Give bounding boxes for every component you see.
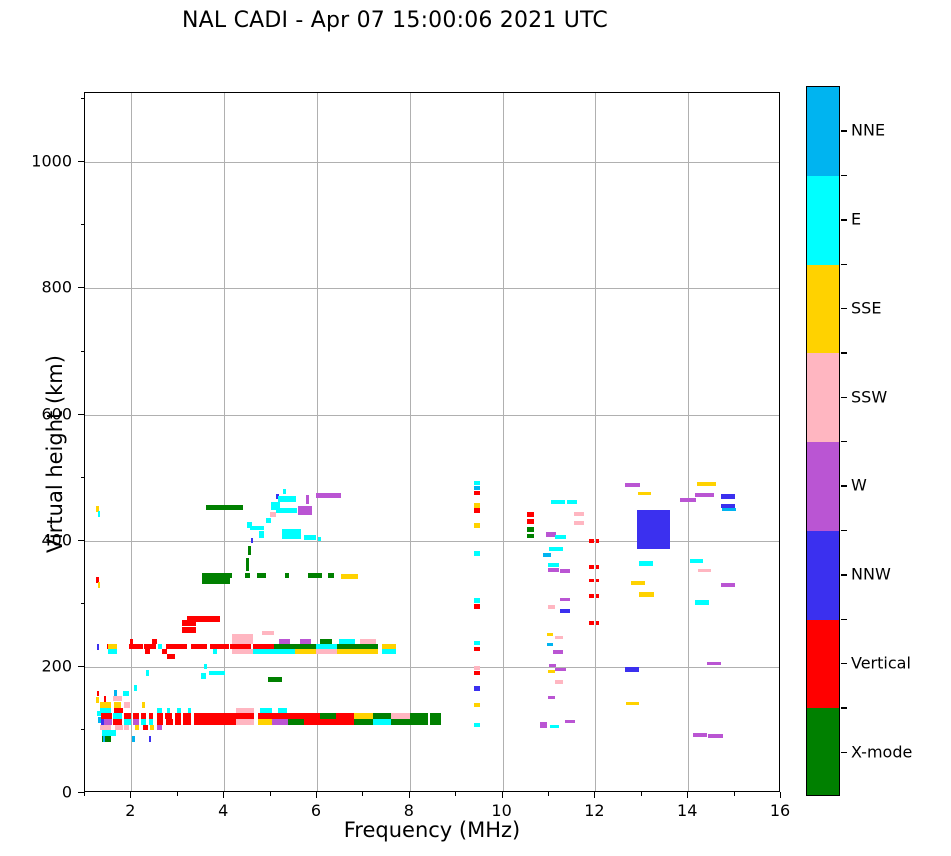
- echo-marker: [111, 730, 116, 736]
- echo-marker: [474, 523, 480, 527]
- echo-marker: [177, 708, 181, 714]
- echo-marker: [257, 573, 266, 579]
- y-tick-minor: [81, 477, 85, 478]
- x-tick: [409, 792, 410, 798]
- y-tick: [78, 792, 84, 793]
- echo-marker: [209, 671, 225, 675]
- x-tick-minor: [362, 792, 363, 796]
- echo-marker: [474, 598, 480, 602]
- echo-marker: [596, 565, 599, 569]
- echo-marker: [245, 573, 250, 579]
- echo-marker: [194, 719, 208, 725]
- echo-marker: [320, 639, 332, 643]
- echo-marker: [548, 670, 555, 673]
- echo-marker: [246, 558, 249, 571]
- echo-marker: [631, 581, 645, 585]
- echo-marker: [339, 639, 355, 643]
- echo-marker: [213, 649, 218, 654]
- echo-marker: [574, 512, 584, 516]
- echo-marker: [250, 526, 264, 530]
- colorbar-tick: [841, 397, 847, 398]
- colorbar-boundary-tick: [841, 530, 847, 531]
- echo-marker: [173, 644, 187, 649]
- echo-marker: [204, 664, 207, 669]
- azimuth-colorbar: [806, 86, 840, 796]
- echo-marker: [298, 506, 312, 515]
- echo-marker: [96, 697, 99, 703]
- colorbar-segment-e: [807, 176, 839, 265]
- echo-marker: [553, 650, 563, 654]
- echo-marker: [268, 677, 282, 681]
- colorbar-segment-nnw: [807, 531, 839, 620]
- echo-marker: [104, 696, 107, 702]
- y-tick-minor: [81, 603, 85, 604]
- echo-marker: [182, 627, 196, 633]
- echo-marker: [134, 685, 137, 691]
- echo-marker: [474, 686, 480, 690]
- x-tick: [502, 792, 503, 798]
- echo-marker: [150, 725, 154, 731]
- colorbar-tick: [841, 308, 847, 309]
- echo-marker: [124, 725, 129, 731]
- colorbar-segment-sse: [807, 265, 839, 354]
- echo-marker: [474, 641, 480, 645]
- x-tick-minor: [84, 792, 85, 796]
- x-tick: [780, 792, 781, 798]
- figure-title: NAL CADI - Apr 07 15:00:06 2021 UTC: [0, 8, 790, 33]
- echo-marker: [358, 649, 379, 654]
- echo-marker: [183, 719, 190, 725]
- echo-marker: [639, 561, 653, 565]
- echo-marker: [221, 719, 237, 725]
- echo-marker: [721, 583, 735, 587]
- echo-marker: [547, 633, 553, 636]
- echo-marker: [680, 498, 696, 502]
- colorbar-segment-ssw: [807, 353, 839, 442]
- echo-marker: [98, 582, 101, 588]
- x-tick-minor: [455, 792, 456, 796]
- echo-marker: [722, 508, 736, 511]
- echo-marker: [474, 503, 480, 507]
- echo-marker: [589, 539, 594, 543]
- echo-marker: [115, 725, 122, 731]
- echo-marker: [550, 725, 558, 728]
- echo-marker: [474, 486, 480, 490]
- echo-marker: [337, 649, 358, 654]
- ionogram-figure: NAL CADI - Apr 07 15:00:06 2021 UTC 2468…: [0, 0, 951, 856]
- x-tick-minor: [548, 792, 549, 796]
- colorbar-segment-x-mode: [807, 708, 839, 796]
- colorbar-boundary-tick: [841, 175, 847, 176]
- echo-marker: [341, 574, 357, 579]
- echo-marker: [474, 671, 480, 675]
- echo-marker: [527, 519, 534, 524]
- y-tick-minor: [81, 224, 85, 225]
- echo-marker: [560, 598, 570, 602]
- echo-marker: [548, 696, 554, 699]
- echo-marker: [543, 553, 551, 557]
- x-axis-label: Frequency (MHz): [84, 818, 780, 842]
- echo-marker: [157, 725, 162, 731]
- echo-marker: [236, 719, 255, 725]
- colorbar-boundary-tick: [841, 441, 847, 442]
- echo-marker: [547, 643, 553, 646]
- plot-area: [84, 92, 780, 792]
- echo-marker: [278, 708, 287, 714]
- x-tick-minor: [641, 792, 642, 796]
- colorbar-segment-w: [807, 442, 839, 531]
- echo-marker: [693, 733, 707, 737]
- echo-marker: [101, 719, 104, 725]
- echo-marker: [306, 495, 309, 504]
- colorbar-tick: [841, 752, 847, 753]
- y-tick-minor: [81, 729, 85, 730]
- echo-marker: [373, 719, 392, 725]
- echo-marker: [527, 527, 534, 532]
- x-tick: [316, 792, 317, 798]
- echo-marker: [270, 512, 276, 517]
- y-tick: [78, 666, 84, 667]
- echo-marker: [272, 719, 288, 725]
- x-tick-minor: [270, 792, 271, 796]
- echo-marker: [474, 723, 480, 727]
- y-tick: [78, 161, 84, 162]
- echo-marker: [114, 690, 116, 696]
- echo-marker: [276, 508, 297, 513]
- echo-marker: [316, 493, 342, 497]
- echo-marker: [285, 573, 290, 579]
- echo-marker: [382, 649, 396, 654]
- x-tick: [594, 792, 595, 798]
- echo-marker: [191, 644, 207, 649]
- y-tick-minor: [81, 98, 85, 99]
- colorbar-label-x-mode: X-mode: [851, 742, 912, 761]
- echo-marker: [596, 579, 599, 583]
- x-tick: [223, 792, 224, 798]
- echo-marker: [336, 719, 355, 725]
- echo-marker: [708, 734, 723, 738]
- echo-marker: [123, 691, 129, 697]
- echo-marker: [555, 668, 565, 672]
- y-tick-label: 0: [22, 783, 72, 802]
- echo-marker: [548, 605, 555, 608]
- echo-marker: [232, 649, 253, 654]
- echo-marker: [695, 600, 709, 604]
- y-tick: [78, 414, 84, 415]
- y-tick-minor: [81, 351, 85, 352]
- echo-marker: [266, 518, 271, 523]
- echo-marker: [589, 594, 594, 598]
- echo-marker: [132, 736, 135, 742]
- colorbar-label-ssw: SSW: [851, 387, 887, 406]
- echo-marker: [283, 489, 286, 494]
- echo-marker: [721, 494, 735, 498]
- echo-marker: [567, 500, 577, 504]
- echo-marker: [548, 568, 560, 572]
- colorbar-boundary-tick: [841, 619, 847, 620]
- echo-marker: [188, 708, 192, 714]
- echo-marker: [253, 649, 274, 654]
- echo-marker: [260, 708, 272, 714]
- echo-marker: [565, 720, 574, 723]
- echo-marker: [143, 725, 148, 731]
- echo-marker: [626, 702, 639, 705]
- echo-marker: [304, 719, 320, 725]
- echo-marker: [236, 708, 255, 714]
- echo-marker: [549, 547, 563, 551]
- echo-marker: [695, 493, 714, 497]
- echo-marker: [474, 703, 480, 707]
- colorbar-label-vertical: Vertical: [851, 653, 911, 672]
- echo-marker: [430, 719, 442, 725]
- y-tick-label: 1000: [22, 152, 72, 171]
- echo-marker: [589, 565, 594, 569]
- echo-marker: [320, 719, 336, 725]
- colorbar-segment-nne: [807, 87, 839, 176]
- colorbar-segment-vertical: [807, 620, 839, 709]
- echo-marker: [698, 569, 711, 572]
- x-tick-minor: [177, 792, 178, 796]
- echo-marker: [282, 529, 301, 539]
- colorbar-boundary-tick: [841, 352, 847, 353]
- echo-marker: [560, 569, 570, 573]
- echo-marker: [206, 505, 243, 510]
- echo-marker: [527, 512, 534, 517]
- echo-marker: [328, 573, 334, 579]
- echo-marker: [474, 604, 480, 608]
- echo-marker: [97, 644, 100, 650]
- echo-marker: [589, 621, 594, 625]
- colorbar-tick: [841, 663, 847, 664]
- echo-marker: [295, 649, 316, 654]
- colorbar-label-nne: NNE: [851, 121, 885, 140]
- echo-marker: [142, 702, 146, 708]
- echo-marker: [360, 639, 376, 643]
- echo-marker: [637, 510, 669, 549]
- echo-marker: [474, 481, 480, 485]
- echo-marker: [625, 667, 639, 671]
- echo-marker: [474, 666, 480, 670]
- echo-marker: [175, 719, 181, 725]
- echo-marker: [316, 649, 337, 654]
- echo-marker: [152, 639, 158, 644]
- echo-marker: [555, 636, 563, 639]
- echo-marker: [167, 708, 171, 714]
- y-axis-label: Virtual height (km): [43, 254, 67, 654]
- echo-marker: [274, 649, 295, 654]
- colorbar-label-e: E: [851, 210, 861, 229]
- colorbar-boundary-tick: [841, 707, 847, 708]
- echo-marker: [474, 551, 480, 555]
- echo-marker: [97, 691, 100, 697]
- echo-marker: [690, 559, 704, 563]
- echo-marker: [279, 639, 291, 643]
- echo-marker: [555, 535, 565, 539]
- echo-marker: [278, 496, 297, 502]
- echo-marker: [129, 644, 143, 649]
- echo-marker: [167, 654, 174, 659]
- echo-marker: [318, 537, 321, 541]
- echo-marker: [98, 511, 101, 517]
- echo-marker: [262, 631, 274, 635]
- echo-marker: [354, 719, 373, 725]
- echo-marker: [288, 719, 304, 725]
- colorbar-tick: [841, 485, 847, 486]
- colorbar-label-nnw: NNW: [851, 565, 891, 584]
- echo-marker: [113, 696, 121, 702]
- echo-marker: [697, 482, 716, 486]
- echo-marker: [625, 483, 640, 487]
- echo-marker: [639, 592, 654, 597]
- echo-marker: [108, 649, 117, 654]
- echo-marker: [540, 722, 547, 728]
- echo-marker: [187, 616, 219, 622]
- y-tick: [78, 287, 84, 288]
- echo-marker: [560, 609, 570, 613]
- echo-marker: [589, 579, 594, 583]
- echo-marker: [259, 531, 264, 539]
- y-tick: [78, 540, 84, 541]
- echo-marker: [166, 719, 172, 725]
- echo-marker: [527, 534, 534, 538]
- echo-marker: [474, 647, 480, 651]
- colorbar-label-sse: SSE: [851, 298, 881, 317]
- x-tick: [687, 792, 688, 798]
- x-tick-minor: [734, 792, 735, 796]
- echo-marker: [596, 539, 599, 543]
- echo-marker: [474, 508, 480, 512]
- colorbar-tick: [841, 574, 847, 575]
- y-tick-label: 200: [22, 656, 72, 675]
- echo-marker: [201, 673, 206, 679]
- echo-marker: [638, 492, 651, 496]
- echo-marker: [574, 521, 584, 525]
- echo-marker: [145, 649, 150, 654]
- echo-marker: [202, 578, 230, 584]
- echo-marker: [149, 736, 152, 742]
- echo-marker: [391, 719, 410, 725]
- echo-marker: [596, 621, 599, 625]
- colorbar-tick: [841, 219, 847, 220]
- echo-marker: [410, 719, 429, 725]
- x-tick: [130, 792, 131, 798]
- echo-marker: [248, 546, 251, 555]
- echo-marker: [124, 702, 130, 708]
- colorbar-tick: [841, 130, 847, 131]
- echo-marker: [135, 725, 140, 731]
- echo-marker: [474, 491, 480, 495]
- echo-marker: [555, 680, 563, 683]
- echo-marker: [103, 736, 106, 742]
- echo-marker: [548, 563, 560, 567]
- echo-data-layer: [85, 93, 779, 791]
- colorbar-boundary-tick: [841, 264, 847, 265]
- echo-marker: [308, 573, 322, 579]
- echo-marker: [551, 500, 565, 504]
- echo-marker: [300, 639, 312, 643]
- colorbar-label-w: W: [851, 476, 867, 495]
- echo-marker: [146, 670, 149, 676]
- echo-marker: [232, 639, 253, 644]
- echo-marker: [707, 662, 721, 665]
- echo-marker: [596, 594, 599, 598]
- echo-marker: [304, 535, 316, 539]
- echo-marker: [251, 538, 254, 543]
